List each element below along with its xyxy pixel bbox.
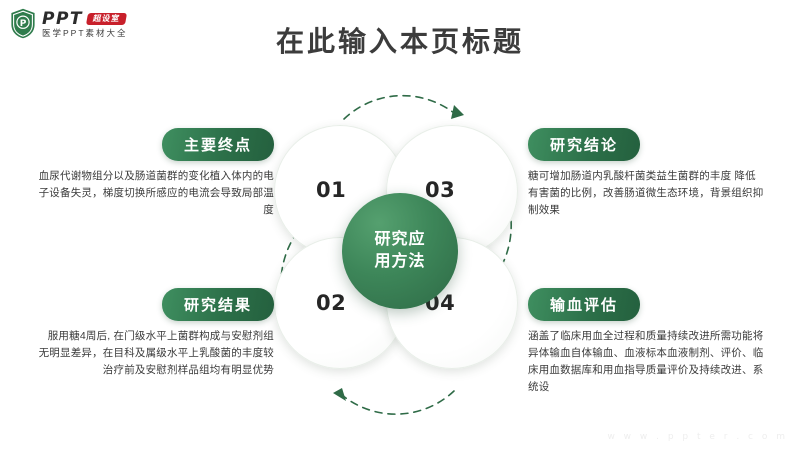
block-label-research-conclusion[interactable]: 研究结论 [528,128,640,161]
block-bottom-left: 研究结果 服用糖4周后, 在门级水平上菌群构成与安慰剂组无明显差异，在目科及属级… [38,288,274,379]
block-text-main-endpoint: 血尿代谢物组分以及肠道菌群的变化植入体内的电子设备失灵，梯度切换所感应的电流会导… [38,168,274,219]
site-watermark: w w w . p p t e r . c o m [607,432,788,442]
flower-diagram: 01 03 02 04 研究应用方法 [268,103,532,398]
petal-number-03: 03 [425,178,455,202]
block-label-main-endpoint[interactable]: 主要终点 [162,128,274,161]
block-text-transfusion-eval: 涵盖了临床用血全过程和质量持续改进所需功能将异体输血自体输血、血液标本血液制剂、… [528,328,764,396]
center-circle-label: 研究应用方法 [374,229,425,272]
page-title: 在此输入本页标题 [0,20,800,60]
block-top-right: 研究结论 糖可增加肠道内乳酸杆菌类益生菌群的丰度 降低有害菌的比例，改善肠道微生… [528,128,764,219]
block-label-transfusion-eval[interactable]: 输血评估 [528,288,640,321]
block-label-research-results[interactable]: 研究结果 [162,288,274,321]
block-top-left: 主要终点 血尿代谢物组分以及肠道菌群的变化植入体内的电子设备失灵，梯度切换所感应… [38,128,274,219]
center-circle[interactable]: 研究应用方法 [342,193,458,309]
block-text-research-conclusion: 糖可增加肠道内乳酸杆菌类益生菌群的丰度 降低有害菌的比例，改善肠道微生态环境，背… [528,168,764,219]
petal-number-01: 01 [316,178,346,202]
block-bottom-right: 输血评估 涵盖了临床用血全过程和质量持续改进所需功能将异体输血自体输血、血液标本… [528,288,764,396]
petal-number-02: 02 [316,291,346,315]
block-text-research-results: 服用糖4周后, 在门级水平上菌群构成与安慰剂组无明显差异，在目科及属级水平上乳酸… [38,328,274,379]
